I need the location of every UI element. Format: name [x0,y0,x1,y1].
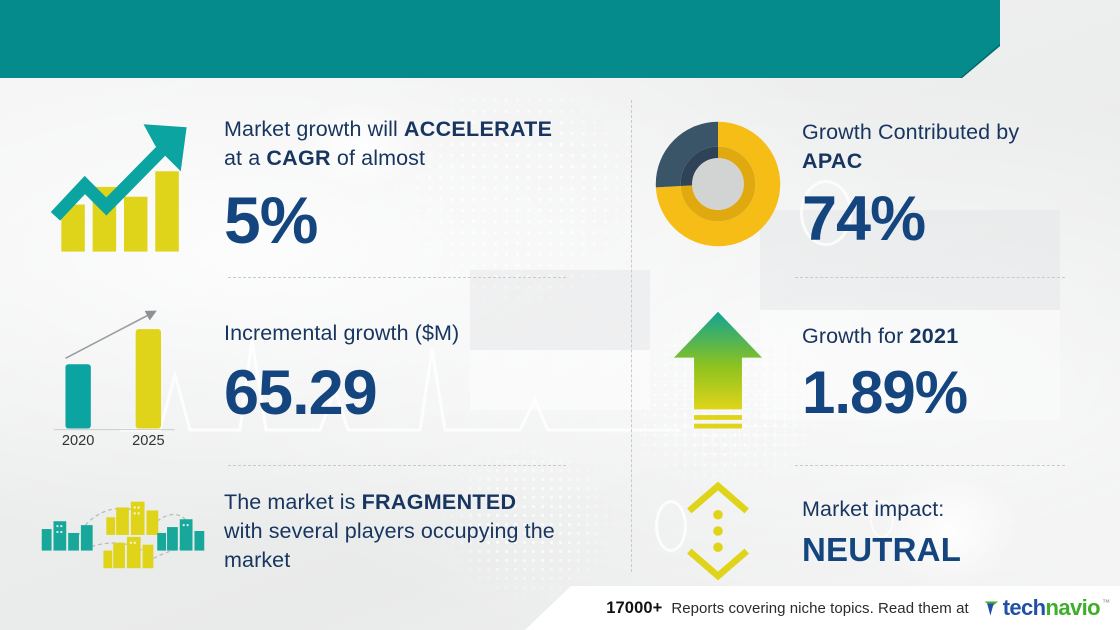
fragmented-companies-icon [28,481,218,581]
growth-year-label: Growth for 2021 [802,322,1108,351]
technavio-logo[interactable]: technavio ™ [984,595,1110,621]
donut-chart-icon [648,114,788,254]
apac-line-1: Growth Contributed by [802,118,1108,147]
bar-label-2020: 2020 [62,433,95,449]
logo-text-navio: navio [1046,595,1100,620]
stat-cell-regional-contribution: Growth Contributed by APAC 74% [648,100,1108,268]
stat-cell-cagr: Market growth will ACCELERATE at a CAGR … [28,100,608,268]
footer-content: 17000+ Reports covering niche topics. Re… [606,586,1120,630]
incremental-growth-label: Incremental growth ($M) [224,319,608,348]
cagr-line-2: at a CAGR of almost [224,144,608,173]
separator-right-1 [795,277,1065,278]
header-fold-corner [960,44,1000,78]
stat-text-yearly-growth: Growth for 2021 1.89% [788,322,1108,423]
stat-cell-incremental-growth: 2020 2025 Incremental growth ($M) 65.29 [28,288,608,456]
stat-cell-market-concentration: The market is FRAGMENTED with several pl… [28,476,608,586]
apac-line-2: APAC [802,147,1108,176]
apac-value: 74% [802,188,1108,251]
market-impact-label: Market impact: [802,495,1108,524]
stat-cell-yearly-growth: Growth for 2021 1.89% [648,288,1108,456]
cagr-value: 5% [224,187,608,253]
stat-cell-market-impact: Market impact: NEUTRAL [648,476,1108,586]
concentration-line-1: The market is FRAGMENTED [224,488,608,517]
market-impact-value: NEUTRAL [802,532,1108,568]
cagr-line-1: Market growth will ACCELERATE [224,115,608,144]
up-arrow-icon [648,297,788,447]
stat-text-cagr: Market growth will ACCELERATE at a CAGR … [218,115,608,253]
footer-bar: 17000+ Reports covering niche topics. Re… [0,586,1120,630]
header-bar [0,0,1000,78]
concentration-line-2: with several players occupying the [224,517,608,546]
footer-text: Reports covering niche topics. Read them… [671,600,968,617]
stat-text-market-concentration: The market is FRAGMENTED with several pl… [218,488,608,575]
concentration-line-3: market [224,546,608,575]
technavio-wordmark: technavio [1003,595,1100,621]
neutral-chevrons-icon [648,476,788,586]
separator-left-2 [228,465,566,466]
technavio-mark-icon [984,599,1001,617]
infographic-page: GLOBAL WAFER HANDLING ROBOTS MARKET 2021… [0,0,1120,630]
bar-label-2025: 2025 [132,433,165,449]
separator-left-1 [228,277,566,278]
report-count: 17000+ [606,599,662,618]
two-bar-comparison-icon: 2020 2025 [28,292,218,452]
trademark-symbol: ™ [1102,598,1110,607]
logo-text-tech: tech [1003,595,1046,620]
stat-text-market-impact: Market impact: NEUTRAL [788,495,1108,568]
stat-text-regional-contribution: Growth Contributed by APAC 74% [788,118,1108,251]
growth-arrow-bars-icon [28,109,218,259]
column-divider [631,100,632,572]
stat-text-incremental-growth: Incremental growth ($M) 65.29 [218,319,608,425]
yearly-growth-value: 1.89% [802,363,1108,423]
separator-right-2 [795,465,1065,466]
incremental-growth-value: 65.29 [224,362,608,425]
